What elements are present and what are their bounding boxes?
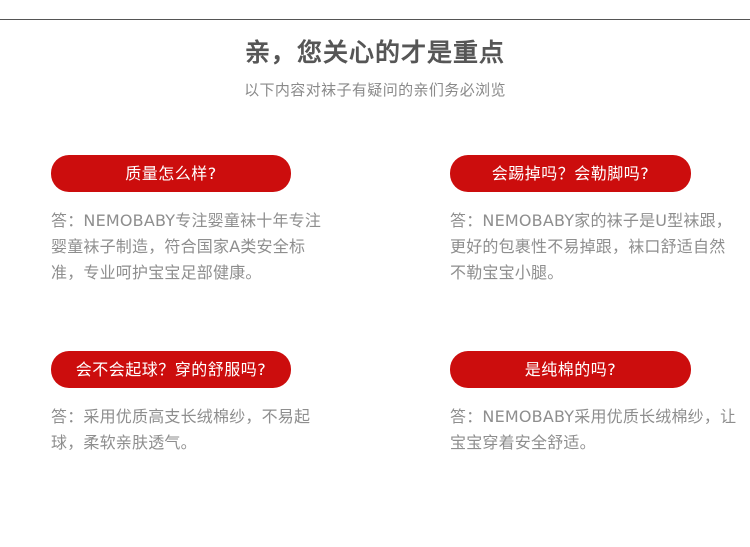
faq-item-4: 是纯棉的吗? 答：NEMOBABY采用优质长绒棉纱，让宝宝穿着安全舒适。 [450, 351, 750, 456]
faq-answer-text-2: 答：NEMOBABY家的袜子是U型袜跟，更好的包裹性不易掉跟，袜口舒适自然不勒宝… [450, 208, 738, 286]
faq-question-banner-4[interactable]: 是纯棉的吗? [450, 351, 691, 388]
faq-page: 亲，您关心的才是重点 以下内容对袜子有疑问的亲们务必浏览 质量怎么样? 答：NE… [0, 0, 750, 501]
faq-question-banner-2[interactable]: 会踢掉吗？会勒脚吗? [450, 155, 691, 192]
faq-question-banner-3[interactable]: 会不会起球？穿的舒服吗? [51, 351, 291, 388]
faq-answer-text-3: 答：采用优质高支长绒棉纱，不易起球，柔软亲肤透气。 [51, 404, 337, 456]
faq-row-1: 质量怎么样? 答：NEMOBABY专注婴童袜十年专注婴童袜子制造，符合国家A类安… [0, 155, 750, 351]
top-divider [0, 19, 750, 20]
faq-item-1: 质量怎么样? 答：NEMOBABY专注婴童袜十年专注婴童袜子制造，符合国家A类安… [51, 155, 351, 286]
faq-answer-text-4: 答：NEMOBABY采用优质长绒棉纱，让宝宝穿着安全舒适。 [450, 404, 738, 456]
faq-item-2: 会踢掉吗？会勒脚吗? 答：NEMOBABY家的袜子是U型袜跟，更好的包裹性不易掉… [450, 155, 750, 286]
faq-item-3: 会不会起球？穿的舒服吗? 答：采用优质高支长绒棉纱，不易起球，柔软亲肤透气。 [51, 351, 351, 456]
faq-question-banner-1[interactable]: 质量怎么样? [51, 155, 291, 192]
faq-row-2: 会不会起球？穿的舒服吗? 答：采用优质高支长绒棉纱，不易起球，柔软亲肤透气。 是… [0, 351, 750, 547]
page-title: 亲，您关心的才是重点 [0, 36, 750, 70]
faq-answer-text-1: 答：NEMOBABY专注婴童袜十年专注婴童袜子制造，符合国家A类安全标准，专业呵… [51, 208, 337, 286]
page-header: 亲，您关心的才是重点 以下内容对袜子有疑问的亲们务必浏览 [0, 36, 750, 101]
faq-grid: 质量怎么样? 答：NEMOBABY专注婴童袜十年专注婴童袜子制造，符合国家A类安… [0, 155, 750, 547]
page-subtitle: 以下内容对袜子有疑问的亲们务必浏览 [0, 79, 750, 101]
